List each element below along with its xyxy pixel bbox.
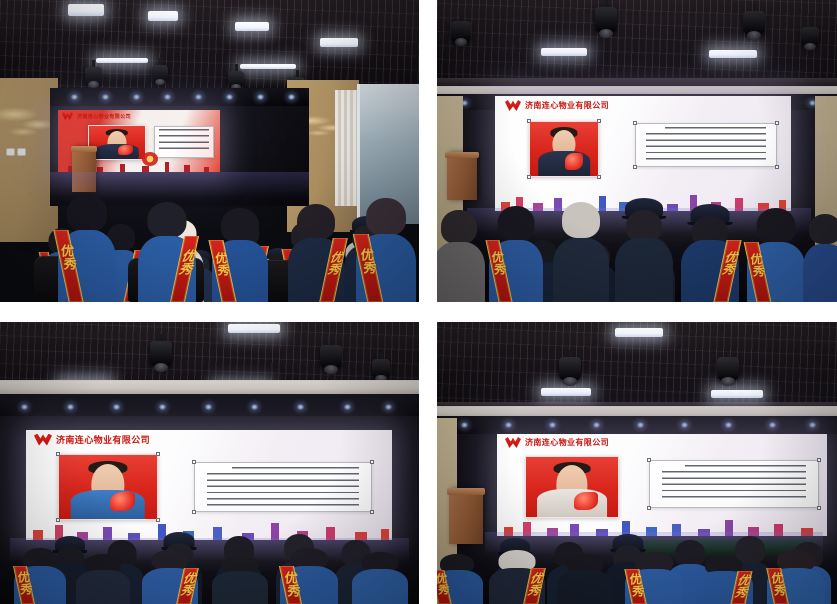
- sash-text: 优秀: [357, 248, 376, 274]
- sash-text: 优秀: [437, 573, 448, 595]
- overhead-light-truss: [0, 400, 419, 416]
- honor-sash: 优秀: [54, 230, 84, 302]
- slide-header: 济南连心物业有限公司: [505, 100, 609, 111]
- slide-company-title: 济南连心物业有限公司: [525, 100, 609, 111]
- audience-member: 优秀: [695, 556, 753, 604]
- stage-light-fixture: [228, 64, 244, 88]
- selection-handle[interactable]: [775, 121, 779, 125]
- person-body: [212, 571, 268, 604]
- person-body: 优秀: [695, 571, 753, 604]
- slide-header: 济南连心物业有限公司: [505, 437, 609, 448]
- ceiling-strip-light: [240, 64, 296, 69]
- person-body: 优秀: [747, 242, 805, 302]
- stage-light-fixture: [801, 20, 819, 48]
- person-body: 优秀: [138, 236, 196, 302]
- person-head: [67, 194, 107, 232]
- stage-light-fixture: [717, 350, 739, 384]
- person-head: [221, 208, 259, 243]
- person-body: [352, 569, 408, 604]
- audience-member: [553, 202, 609, 302]
- sash-text: 优秀: [281, 571, 300, 597]
- ceiling-panel-light: [235, 22, 269, 31]
- audience-member: 优秀: [489, 206, 543, 302]
- honoree-bio-textbox: [635, 123, 777, 167]
- stage-light-fixture: [320, 338, 342, 372]
- sash-text: 优秀: [179, 572, 196, 596]
- audience-member: [352, 552, 408, 604]
- person-body: 优秀: [142, 568, 198, 604]
- selection-handle[interactable]: [633, 121, 637, 125]
- grid-gap-center: [419, 302, 437, 322]
- person-head: [498, 206, 535, 241]
- stage-light-fixture: [150, 334, 172, 370]
- person-body: 优秀: [489, 568, 545, 604]
- person-head: [809, 214, 837, 244]
- stage-light-fixture: [451, 14, 471, 44]
- sash-text: 优秀: [489, 251, 506, 275]
- overhead-light-truss: [50, 90, 309, 106]
- auditorium-room-screen-closeup: 济南连心物业有限公司: [437, 0, 837, 302]
- audience-member: 优秀: [288, 204, 344, 302]
- person-body: 优秀: [58, 230, 116, 302]
- ceiling-strip-light: [96, 58, 148, 63]
- sash-text: 优秀: [748, 253, 765, 277]
- honor-sash: 优秀: [319, 238, 347, 302]
- auditorium-room-screen-closeup: 济南连心物业有限公司: [437, 322, 837, 604]
- grid-gap-horizontal: [0, 302, 419, 322]
- person-body: 优秀: [288, 238, 344, 302]
- grid-gap-vertical: [419, 322, 437, 604]
- person-body: [615, 238, 673, 302]
- audience-member: [212, 556, 268, 604]
- sash-text: 优秀: [213, 252, 230, 276]
- honor-sash: 优秀: [714, 240, 742, 302]
- audience-member: [803, 214, 837, 302]
- slide-header: 济南连心物业有限公司: [62, 112, 131, 120]
- bio-first-line-indent: [662, 465, 686, 470]
- selection-handle[interactable]: [647, 458, 651, 462]
- person-head: [757, 208, 796, 244]
- person-head: [562, 202, 600, 238]
- person-body: 优秀: [489, 240, 543, 302]
- person-body: 优秀: [356, 234, 416, 302]
- person-body: 优秀: [625, 569, 683, 604]
- audience-member: 优秀: [681, 204, 739, 302]
- stage-light-fixture: [743, 4, 765, 38]
- audience-seating-area: 优秀 优秀 优秀: [437, 496, 837, 604]
- audience-member: [76, 554, 130, 604]
- photo-top-right[interactable]: 济南连心物业有限公司: [437, 0, 837, 302]
- company-logo-icon: [505, 437, 521, 448]
- audience-member: 优秀: [356, 198, 416, 302]
- bio-first-line-indent: [646, 127, 666, 132]
- photo-grid: 济南连心物业有限公司: [0, 0, 837, 604]
- bio-text-lines: [646, 127, 766, 161]
- sash-text: 优秀: [734, 574, 751, 598]
- auditorium-room-wide: 济南连心物业有限公司: [0, 0, 419, 302]
- audience-member: 优秀: [142, 550, 198, 604]
- person-body: 优秀: [212, 240, 268, 302]
- person-body: [803, 244, 837, 302]
- sash-text: 优秀: [326, 251, 343, 275]
- selection-handle[interactable]: [156, 452, 160, 456]
- stage-light-fixture: [85, 60, 102, 86]
- audience-member: 优秀: [767, 550, 825, 604]
- company-logo-icon: [62, 112, 73, 120]
- slide-company-title: 济南连心物业有限公司: [525, 437, 609, 448]
- honor-sash: 优秀: [744, 242, 772, 302]
- person-body: 优秀: [437, 570, 483, 604]
- person-head: [297, 204, 335, 240]
- company-logo-icon: [505, 100, 521, 111]
- ceiling-panel-light: [541, 388, 591, 396]
- ceiling-panel-light: [615, 328, 663, 337]
- audience-member: [557, 554, 613, 604]
- person-body: 优秀: [280, 566, 338, 604]
- photo-bottom-right[interactable]: 济南连心物业有限公司: [437, 322, 837, 604]
- honor-sash: 优秀: [209, 240, 237, 302]
- selection-handle[interactable]: [370, 460, 374, 464]
- selection-handle[interactable]: [817, 458, 821, 462]
- person-body: 优秀: [14, 566, 66, 604]
- honor-sash: 优秀: [13, 566, 35, 604]
- person-body: [557, 570, 613, 604]
- slide-company-title: 济南连心物业有限公司: [56, 433, 150, 446]
- audience-seating-area: 优秀 优秀: [437, 162, 837, 302]
- grid-gap-horizontal: [437, 302, 837, 322]
- person-body: 优秀: [767, 568, 825, 604]
- audience-member: 优秀: [138, 202, 196, 302]
- bio-first-line-indent: [207, 467, 232, 472]
- ceiling-panel-light: [711, 390, 763, 398]
- honor-sash: 优秀: [625, 569, 648, 604]
- honor-sash: 优秀: [170, 236, 199, 302]
- honor-sash: 优秀: [437, 570, 451, 604]
- company-logo-icon: [34, 434, 52, 446]
- audience-seating-area: 优秀 优秀: [0, 494, 419, 604]
- audience-member: 优秀: [280, 548, 338, 604]
- ceiling-panel-light: [228, 324, 280, 333]
- ceiling-panel-light: [68, 4, 104, 16]
- sash-text: 优秀: [526, 572, 543, 596]
- person-head: [441, 210, 477, 244]
- audience-member: [437, 210, 485, 302]
- honor-sash: 优秀: [486, 240, 513, 302]
- person-body: [553, 238, 609, 302]
- person-body: [437, 242, 485, 302]
- selection-handle[interactable]: [597, 119, 601, 123]
- audience-member: 优秀: [489, 550, 545, 604]
- person-body: [76, 570, 130, 604]
- sash-text: 优秀: [177, 249, 196, 275]
- person-body: 优秀: [681, 240, 739, 302]
- auditorium-room-screen-closeup: 济南连心物业有限公司: [0, 322, 419, 604]
- selection-handle[interactable]: [192, 460, 196, 464]
- sash-text: 优秀: [58, 244, 77, 270]
- photo-top-left[interactable]: 济南连心物业有限公司: [0, 0, 419, 302]
- audience-member: 优秀: [58, 194, 116, 302]
- honor-sash: 优秀: [176, 568, 198, 604]
- overhead-light-truss: [437, 418, 837, 434]
- stage-light-fixture: [372, 352, 390, 380]
- honor-sash: 优秀: [352, 234, 382, 302]
- ceiling-grille: [437, 0, 837, 88]
- stage-light-fixture: [595, 0, 617, 36]
- selection-handle[interactable]: [56, 452, 60, 456]
- honor-sash: 优秀: [523, 568, 545, 604]
- audience-member: [615, 198, 673, 302]
- podium-top: [445, 152, 479, 158]
- ceiling-soffit: [0, 380, 419, 394]
- person-head: [148, 202, 187, 238]
- audience-member: 优秀: [625, 552, 683, 604]
- sash-text: 优秀: [769, 572, 786, 596]
- stage-light-fixture: [152, 58, 168, 83]
- sash-text: 优秀: [15, 571, 32, 595]
- honor-sash: 优秀: [279, 566, 302, 604]
- audience-seating-area: 优秀 优秀: [0, 127, 419, 302]
- ceiling-panel-light: [320, 38, 358, 47]
- person-head: [366, 198, 406, 236]
- audience-member: 优秀: [14, 548, 66, 604]
- audience-member: 优秀: [747, 208, 805, 302]
- selection-handle[interactable]: [527, 119, 531, 123]
- honor-sash: 优秀: [731, 571, 753, 604]
- stage-light-fixture: [559, 350, 581, 384]
- ceiling-panel-light: [148, 11, 178, 21]
- audience-member: 优秀: [437, 554, 483, 604]
- slide-company-title: 济南连心物业有限公司: [77, 113, 131, 120]
- audience-member: 优秀: [212, 208, 268, 302]
- slide-header: 济南连心物业有限公司: [34, 433, 150, 446]
- podium-top: [447, 488, 485, 495]
- grid-gap-vertical: [419, 0, 437, 302]
- ceiling-panel-light: [541, 48, 587, 56]
- sash-text: 优秀: [627, 573, 644, 597]
- ceiling-panel-light: [709, 50, 757, 58]
- photo-bottom-left[interactable]: 济南连心物业有限公司: [0, 322, 419, 604]
- honor-sash: 优秀: [767, 568, 790, 604]
- sash-text: 优秀: [721, 251, 738, 275]
